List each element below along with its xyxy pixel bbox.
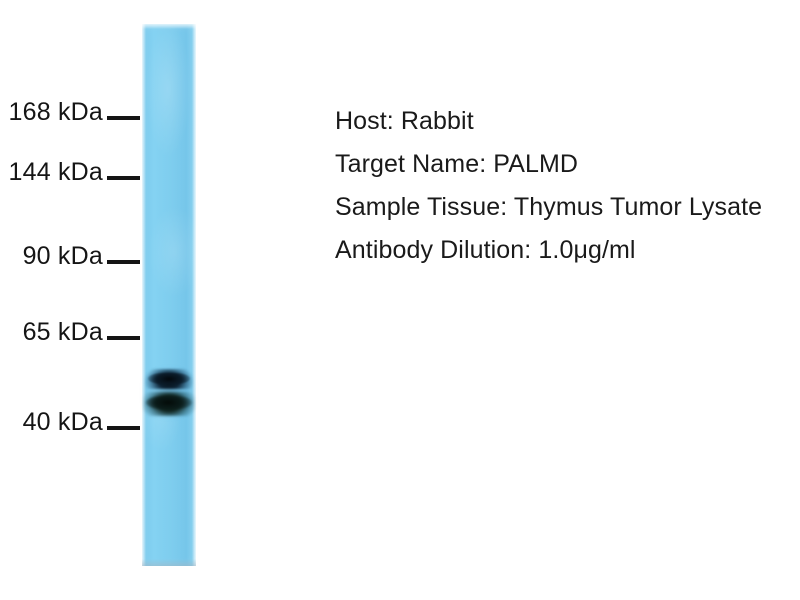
marker-tick-90-icon — [107, 260, 140, 264]
marker-tick-168-icon — [107, 116, 140, 120]
lane-edge-top — [142, 24, 196, 29]
info-line-host: Host: Rabbit — [335, 100, 800, 143]
marker-row-144: 144 kDa — [0, 155, 140, 189]
experiment-info-panel: Host: Rabbit Target Name: PALMD Sample T… — [335, 100, 800, 272]
marker-label-144: 144 kDa — [8, 160, 103, 185]
marker-tick-65-icon — [107, 336, 140, 340]
marker-tick-144-icon — [107, 176, 140, 180]
info-line-target-name: Target Name: PALMD — [335, 143, 800, 186]
blot-lane — [142, 24, 196, 566]
molecular-weight-marker-ladder: 168 kDa 144 kDa 90 kDa 65 kDa 40 kDa — [0, 0, 140, 600]
western-blot-figure: 168 kDa 144 kDa 90 kDa 65 kDa 40 kDa — [0, 0, 800, 600]
info-line-sample-tissue: Sample Tissue: Thymus Tumor Lysate — [335, 186, 800, 229]
marker-tick-40-icon — [107, 426, 140, 430]
marker-row-40: 40 kDa — [0, 405, 140, 439]
marker-label-65: 65 kDa — [23, 320, 103, 345]
protein-band-lower-core — [146, 396, 192, 409]
lane-edge-left — [142, 24, 146, 566]
marker-label-40: 40 kDa — [23, 410, 103, 435]
protein-band-upper-core — [148, 373, 190, 384]
marker-row-65: 65 kDa — [0, 315, 140, 349]
marker-row-168: 168 kDa — [0, 95, 140, 129]
info-line-antibody-dilution: Antibody Dilution: 1.0μg/ml — [335, 229, 800, 272]
marker-row-90: 90 kDa — [0, 239, 140, 273]
lane-edge-right — [192, 24, 196, 566]
lane-edge-bottom — [142, 559, 196, 566]
marker-label-90: 90 kDa — [23, 244, 103, 269]
marker-label-168: 168 kDa — [8, 100, 103, 125]
